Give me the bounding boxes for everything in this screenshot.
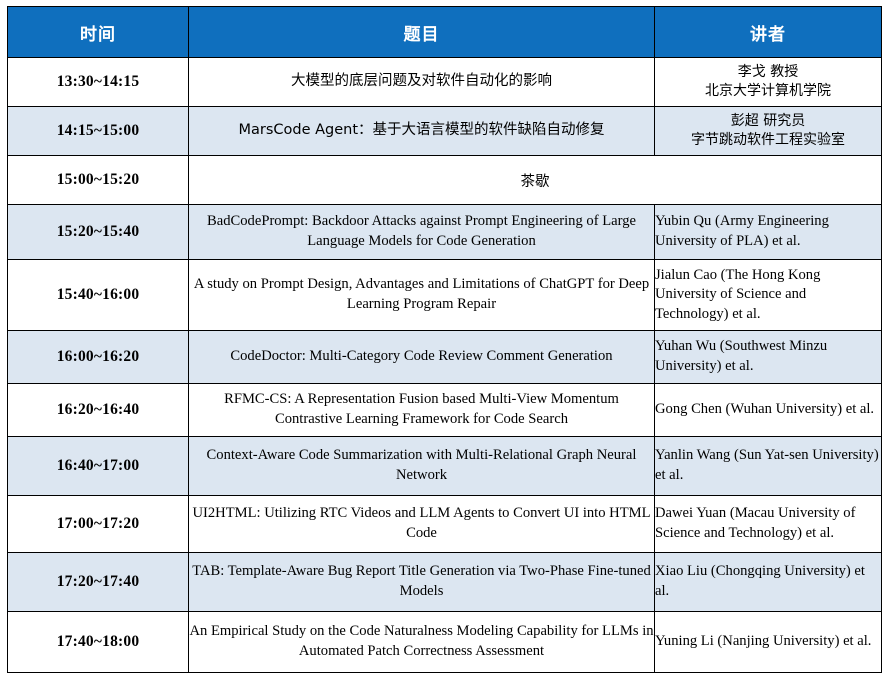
cell-time: 17:20~17:40 — [8, 553, 189, 612]
cell-speaker: Yuhan Wu (Southwest Minzu University) et… — [655, 331, 882, 384]
cell-title: MarsCode Agent：基于大语言模型的软件缺陷自动修复 — [189, 107, 655, 156]
table-row: 14:15~15:00MarsCode Agent：基于大语言模型的软件缺陷自动… — [8, 107, 882, 156]
cell-title: UI2HTML: Utilizing RTC Videos and LLM Ag… — [189, 496, 655, 553]
table-row: 16:40~17:00Context-Aware Code Summarizat… — [8, 437, 882, 496]
table-body: 13:30~14:15大模型的底层问题及对软件自动化的影响李戈 教授北京大学计算… — [8, 58, 882, 673]
cell-speaker: Yubin Qu (Army Engineering University of… — [655, 205, 882, 260]
column-header-speaker: 讲者 — [655, 7, 882, 58]
cell-title: CodeDoctor: Multi-Category Code Review C… — [189, 331, 655, 384]
table-row: 16:00~16:20CodeDoctor: Multi-Category Co… — [8, 331, 882, 384]
cell-time: 15:20~15:40 — [8, 205, 189, 260]
table-row: 15:20~15:40BadCodePrompt: Backdoor Attac… — [8, 205, 882, 260]
cell-speaker: Dawei Yuan (Macau University of Science … — [655, 496, 882, 553]
cell-time: 16:00~16:20 — [8, 331, 189, 384]
schedule-container: 时间 题目 讲者 13:30~14:15大模型的底层问题及对软件自动化的影响李戈… — [0, 0, 888, 682]
cell-time: 15:00~15:20 — [8, 156, 189, 205]
cell-speaker: 彭超 研究员字节跳动软件工程实验室 — [655, 107, 882, 156]
table-row: 13:30~14:15大模型的底层问题及对软件自动化的影响李戈 教授北京大学计算… — [8, 58, 882, 107]
cell-title: A study on Prompt Design, Advantages and… — [189, 260, 655, 331]
column-header-time: 时间 — [8, 7, 189, 58]
table-row: 17:20~17:40TAB: Template-Aware Bug Repor… — [8, 553, 882, 612]
cell-time: 15:40~16:00 — [8, 260, 189, 331]
cell-speaker: Xiao Liu (Chongqing University) et al. — [655, 553, 882, 612]
header-row: 时间 题目 讲者 — [8, 7, 882, 58]
table-row: 17:40~18:00An Empirical Study on the Cod… — [8, 612, 882, 673]
cell-speaker: 李戈 教授北京大学计算机学院 — [655, 58, 882, 107]
cell-time: 14:15~15:00 — [8, 107, 189, 156]
column-header-title: 题目 — [189, 7, 655, 58]
cell-time: 16:20~16:40 — [8, 384, 189, 437]
table-row: 15:40~16:00A study on Prompt Design, Adv… — [8, 260, 882, 331]
cell-time: 17:40~18:00 — [8, 612, 189, 673]
cell-speaker: Jialun Cao (The Hong Kong University of … — [655, 260, 882, 331]
session-schedule-table: 时间 题目 讲者 13:30~14:15大模型的底层问题及对软件自动化的影响李戈… — [7, 6, 882, 673]
cell-title: An Empirical Study on the Code Naturalne… — [189, 612, 655, 673]
table-row: 16:20~16:40RFMC-CS: A Representation Fus… — [8, 384, 882, 437]
table-header: 时间 题目 讲者 — [8, 7, 882, 58]
cell-speaker: Yuning Li (Nanjing University) et al. — [655, 612, 882, 673]
cell-title: 大模型的底层问题及对软件自动化的影响 — [189, 58, 655, 107]
table-row: 15:00~15:20茶歇 — [8, 156, 882, 205]
cell-title: BadCodePrompt: Backdoor Attacks against … — [189, 205, 655, 260]
cell-speaker: Gong Chen (Wuhan University) et al. — [655, 384, 882, 437]
cell-title: Context-Aware Code Summarization with Mu… — [189, 437, 655, 496]
cell-title: RFMC-CS: A Representation Fusion based M… — [189, 384, 655, 437]
cell-speaker: Yanlin Wang (Sun Yat-sen University) et … — [655, 437, 882, 496]
cell-time: 17:00~17:20 — [8, 496, 189, 553]
cell-time: 13:30~14:15 — [8, 58, 189, 107]
cell-break: 茶歇 — [189, 156, 882, 205]
cell-time: 16:40~17:00 — [8, 437, 189, 496]
cell-title: TAB: Template-Aware Bug Report Title Gen… — [189, 553, 655, 612]
table-row: 17:00~17:20UI2HTML: Utilizing RTC Videos… — [8, 496, 882, 553]
